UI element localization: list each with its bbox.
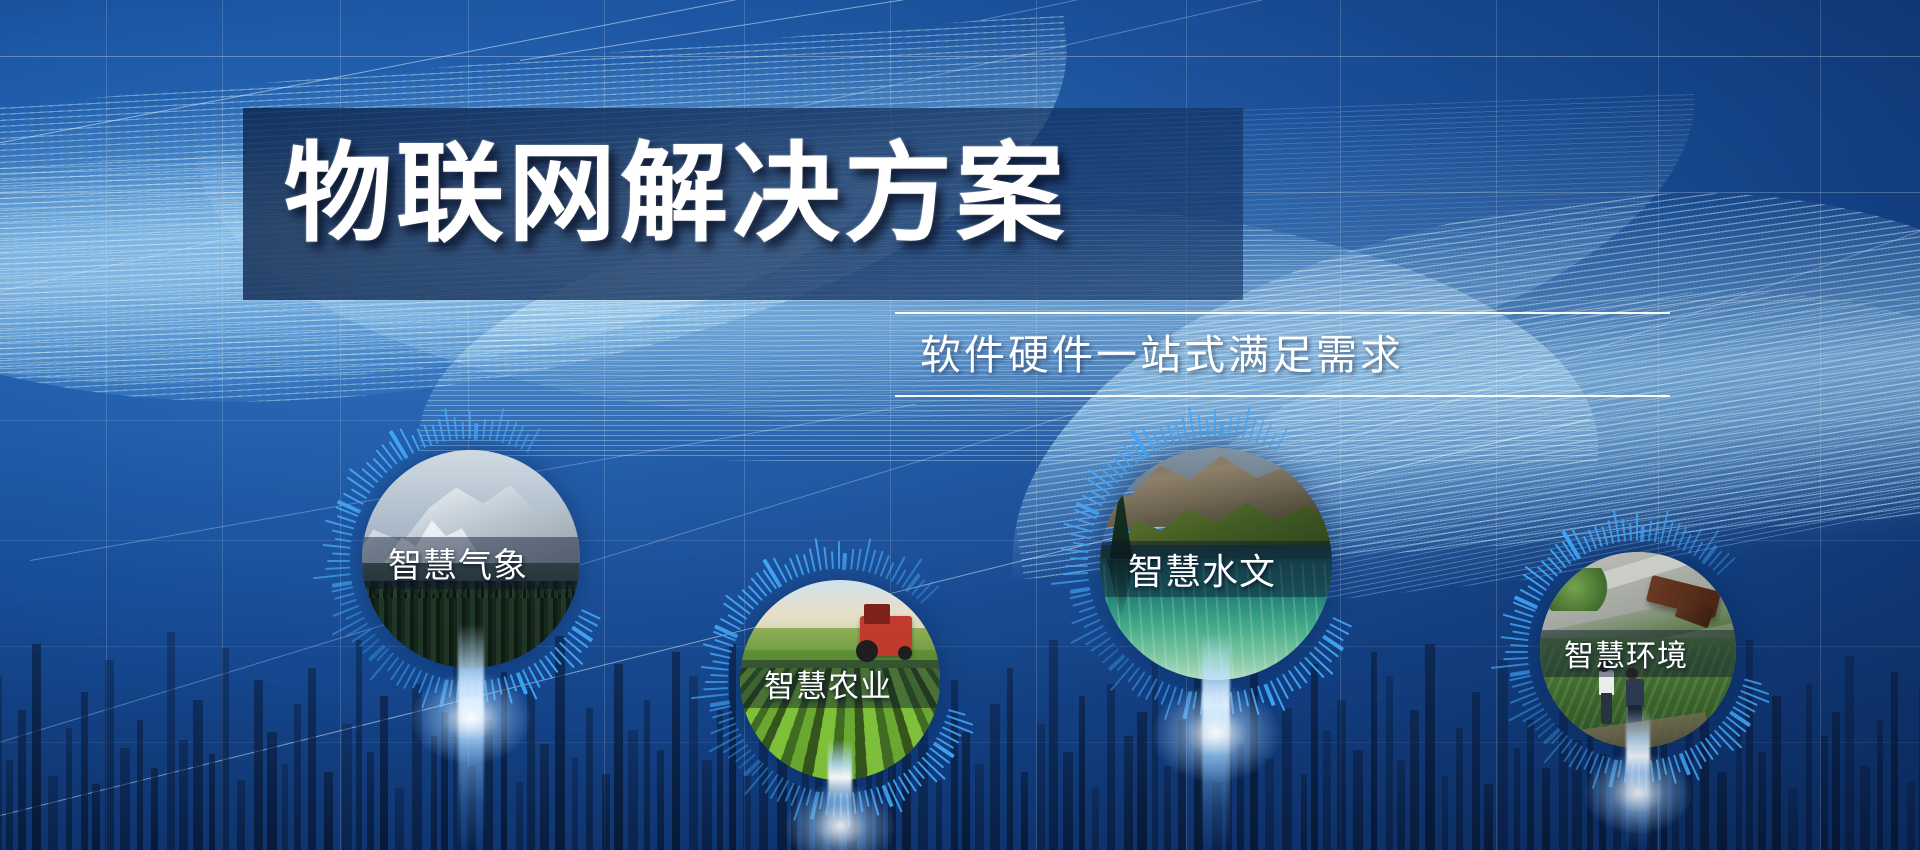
ring-tick	[825, 792, 829, 815]
skyline-bar	[167, 632, 175, 850]
skyline-bar	[193, 700, 203, 850]
ring-tick	[1512, 630, 1529, 635]
skyline-bar	[267, 732, 277, 850]
ring-tick	[340, 599, 357, 606]
photo-tractor-cab	[864, 604, 890, 624]
ring-tick	[1491, 663, 1529, 669]
medallion-label: 智慧水文	[1128, 543, 1276, 595]
ring-tick	[337, 515, 357, 523]
ring-tick	[1079, 606, 1096, 613]
ring-tick	[1510, 623, 1531, 629]
skyline-bar	[222, 648, 229, 850]
ring-tick	[461, 421, 464, 439]
medallion-4[interactable]: 智慧环境	[1467, 479, 1808, 820]
skyline-bar	[1301, 774, 1307, 850]
medallion-label: 智慧环境	[1564, 631, 1688, 675]
ring-tick	[1244, 690, 1250, 707]
medallion-label-band: 智慧环境	[1540, 630, 1736, 677]
photo-person-b-top	[1626, 679, 1644, 706]
skyline-bar	[1845, 656, 1854, 850]
ring-tick	[1216, 693, 1218, 717]
ring-tick	[710, 674, 728, 677]
photo-tractor-wheel-front	[898, 646, 912, 660]
ring-tick	[423, 424, 432, 445]
ring-tick	[469, 411, 471, 439]
ring-tick	[325, 567, 350, 570]
ring-tick	[323, 544, 351, 549]
ring-tick	[463, 681, 466, 706]
ring-tick	[833, 793, 836, 818]
medallion-photo[interactable]: 智慧气象	[362, 450, 580, 668]
medallion-2[interactable]: 智慧农业	[666, 506, 1014, 850]
skyline-bar	[237, 780, 245, 850]
ring-tick	[1182, 691, 1192, 719]
ring-tick	[1629, 523, 1632, 541]
medallion-3[interactable]: 智慧水文	[1014, 362, 1418, 766]
skyline-bar	[395, 788, 404, 850]
ring-tick	[805, 789, 811, 806]
skyline-bar	[540, 744, 549, 850]
skyline-bar	[6, 760, 13, 850]
skyline-bar	[1891, 672, 1898, 850]
skyline-bar	[367, 752, 374, 850]
skyline-bar	[209, 754, 215, 850]
ring-tick	[1617, 760, 1622, 778]
photo-tractor-wheel-rear	[856, 640, 878, 662]
ring-tick	[1192, 691, 1197, 709]
ring-tick	[1601, 526, 1608, 546]
medallion-photo[interactable]: 智慧水文	[1100, 448, 1332, 680]
ring-tick	[1072, 599, 1093, 607]
ring-tick	[491, 679, 496, 700]
ring-tick	[431, 424, 438, 444]
iot-solution-banner: 物联网解决方案 软件硬件一站式满足需求 智慧气象智慧农业智慧水文智慧环境	[0, 0, 1920, 850]
skyline-bar	[1425, 644, 1435, 850]
ring-tick	[448, 679, 453, 697]
ring-tick	[1198, 415, 1202, 438]
ring-tick	[1177, 688, 1183, 705]
ring-tick	[1257, 686, 1265, 704]
ring-tick	[810, 791, 820, 819]
ring-tick	[1648, 521, 1652, 542]
skyline-bar	[1860, 766, 1870, 850]
ring-tick	[1200, 692, 1204, 715]
ring-tick	[1235, 417, 1241, 439]
ring-tick	[1188, 406, 1195, 439]
ring-tick	[453, 417, 457, 440]
skyline-bar	[1021, 772, 1028, 850]
skyline-bar	[1063, 752, 1073, 850]
ring-tick	[482, 419, 486, 440]
ring-tick	[1510, 692, 1537, 704]
ring-tick	[1051, 579, 1089, 585]
ring-tick	[1607, 520, 1614, 544]
ring-tick	[334, 538, 351, 543]
medallion-label-band: 智慧气象	[362, 537, 580, 589]
ring-tick	[838, 541, 840, 569]
skyline-bar	[282, 764, 288, 850]
ring-tick	[1503, 657, 1528, 660]
skyline-bar	[105, 660, 114, 850]
ring-tick	[948, 709, 966, 716]
ring-tick	[1073, 542, 1090, 547]
ring-tick	[1640, 525, 1645, 542]
ring-tick	[840, 793, 842, 817]
ring-tick	[489, 419, 495, 441]
ring-tick	[1208, 693, 1211, 718]
ring-tick	[1166, 423, 1175, 444]
ring-tick	[1662, 758, 1668, 775]
ring-tick	[705, 681, 728, 683]
ring-tick	[1656, 759, 1661, 780]
medallion-label-band: 智慧农业	[740, 660, 940, 708]
ring-tick	[831, 551, 834, 569]
ring-tick	[856, 548, 862, 570]
medallion-photo[interactable]: 智慧环境	[1540, 552, 1736, 748]
ring-tick	[1219, 421, 1224, 438]
ring-tick	[701, 666, 729, 671]
skyline-bar	[81, 692, 88, 850]
skyline-bar	[1456, 728, 1463, 850]
ring-tick	[819, 792, 824, 810]
ring-tick	[1061, 548, 1089, 553]
skyline-bar	[324, 772, 333, 850]
skyline-bar	[18, 710, 26, 850]
ring-tick	[1181, 417, 1188, 441]
ring-tick	[803, 554, 810, 574]
ring-tick	[1174, 422, 1181, 442]
photo-shrub-cluster	[1548, 568, 1615, 611]
medallion-photo[interactable]: 智慧农业	[740, 580, 940, 780]
ring-tick	[858, 791, 863, 812]
ring-tick	[1075, 518, 1095, 526]
skyline-bar	[1832, 712, 1840, 850]
ring-tick	[1636, 513, 1638, 541]
ring-tick	[1206, 419, 1209, 437]
ring-tick	[1230, 692, 1234, 714]
skyline-bar	[137, 720, 143, 850]
skyline-bar	[431, 736, 437, 850]
ring-tick	[332, 529, 353, 535]
ring-tick	[1650, 760, 1654, 782]
medallion-1[interactable]: 智慧气象	[281, 369, 661, 749]
ring-tick	[1223, 693, 1227, 727]
ring-tick	[846, 793, 850, 827]
ring-tick	[850, 549, 854, 570]
skyline-bar	[1164, 766, 1171, 850]
ring-tick	[478, 681, 482, 715]
skyline-bar	[1877, 720, 1883, 850]
ring-tick	[852, 792, 856, 814]
ring-tick	[864, 790, 870, 807]
ring-tick	[691, 693, 729, 699]
ring-tick	[439, 679, 449, 707]
skyline-bar	[1265, 758, 1274, 850]
ring-tick	[703, 687, 728, 690]
ring-tick	[1063, 572, 1088, 575]
skyline-bar	[32, 644, 41, 850]
skyline-bar	[254, 680, 263, 850]
ring-tick	[1505, 651, 1528, 653]
ring-tick	[484, 680, 488, 702]
ring-tick	[1613, 510, 1620, 543]
skyline-bar	[1397, 760, 1405, 850]
ring-tick	[474, 423, 479, 440]
skyline-bar	[1442, 776, 1448, 850]
ring-tick	[327, 560, 350, 562]
skyline-bar	[0, 676, 2, 850]
ring-tick	[1604, 757, 1610, 774]
ring-tick	[438, 418, 445, 442]
skyline-bar	[657, 750, 664, 850]
ring-tick	[444, 408, 451, 441]
ring-tick	[842, 553, 847, 570]
ring-tick	[1159, 427, 1169, 447]
skyline-bar	[1092, 788, 1099, 850]
ring-tick	[815, 538, 822, 571]
skyline-bar	[516, 782, 523, 850]
ring-tick	[332, 552, 350, 555]
skyline-bar	[602, 774, 610, 850]
ring-tick	[434, 677, 440, 694]
skyline-bar	[467, 766, 476, 850]
ring-tick	[1624, 760, 1628, 783]
ring-tick	[497, 678, 503, 695]
ring-tick	[1070, 533, 1091, 539]
ring-tick	[1510, 644, 1528, 647]
skyline-bar	[120, 748, 130, 850]
skyline-bar	[48, 776, 58, 850]
skyline-bar	[1212, 782, 1222, 850]
medallion-label: 智慧气象	[388, 538, 528, 587]
ring-tick	[1631, 761, 1634, 786]
page-title: 物联网解决方案	[284, 130, 1068, 257]
skyline-bar	[1821, 736, 1828, 850]
ring-tick	[1644, 761, 1648, 795]
ring-tick	[712, 660, 729, 665]
ring-tick	[809, 548, 816, 572]
ring-tick	[1065, 565, 1088, 567]
ring-tick	[1237, 691, 1242, 712]
ring-tick	[1638, 761, 1640, 785]
ring-tick	[1501, 636, 1529, 641]
ring-tick	[334, 592, 355, 600]
skyline-bar	[1907, 782, 1915, 850]
ring-tick	[455, 680, 459, 703]
photo-person-a-legs	[1601, 693, 1613, 724]
ring-tick	[1214, 409, 1216, 437]
medallion-label-band: 智慧水文	[1100, 541, 1332, 597]
ring-tick	[313, 573, 351, 579]
ring-tick	[1070, 557, 1088, 560]
ring-tick	[710, 652, 731, 658]
ring-tick	[411, 435, 420, 451]
skyline-bar	[66, 728, 72, 850]
medallion-label: 智慧农业	[764, 661, 892, 706]
ring-tick	[1228, 417, 1232, 438]
skyline-bar	[92, 784, 100, 850]
ring-tick	[823, 547, 827, 570]
ring-tick	[1608, 759, 1618, 787]
skyline-bar	[572, 758, 578, 850]
ring-tick	[1622, 519, 1626, 542]
skyline-bar	[179, 740, 188, 850]
ring-tick	[471, 681, 473, 705]
ring-tick	[1654, 520, 1660, 542]
skyline-bar	[151, 768, 158, 850]
ring-tick	[1744, 678, 1762, 685]
